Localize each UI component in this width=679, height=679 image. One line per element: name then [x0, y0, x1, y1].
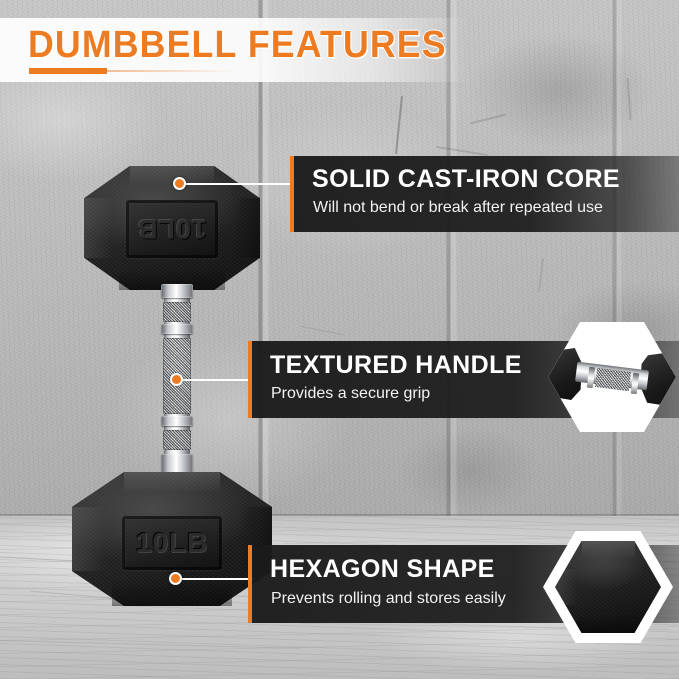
title-underline-fade: [107, 70, 237, 72]
feature-panel-solid-cast-iron-core[interactable]: SOLID CAST-IRON CORE Will not bend or br…: [290, 156, 679, 232]
wall-crack: [627, 78, 632, 120]
leader-line-feature-1: [184, 183, 294, 185]
handle-knurl-band-top: [163, 302, 191, 322]
weight-label-top: 10LB: [126, 200, 218, 258]
feature-title-1: SOLID CAST-IRON CORE: [312, 165, 620, 194]
marker-dot-feature-2[interactable]: [170, 373, 183, 386]
leader-line-feature-2: [182, 379, 252, 381]
weight-plate-top: 10LB: [126, 200, 218, 258]
hex-face-shadow-bottom: [576, 613, 640, 633]
mini-handle-ring: [587, 367, 596, 389]
feature-title-3: HEXAGON SHAPE: [270, 555, 495, 584]
dumbbell-bottom-head: 10LB: [72, 472, 272, 606]
panel-accent-bar: [248, 341, 252, 418]
wall-crack: [300, 326, 343, 335]
mini-hexagon-face: [555, 541, 661, 633]
feature-title-2: TEXTURED HANDLE: [270, 351, 522, 380]
hex-face-highlight-left: [555, 569, 578, 606]
marker-dot-feature-1[interactable]: [173, 177, 186, 190]
leader-line-feature-3: [182, 578, 254, 580]
wall-crack: [436, 146, 488, 156]
title-underline-bar: [29, 68, 107, 74]
handle-ring-lower: [161, 416, 193, 426]
mini-handle-knurl: [595, 368, 631, 391]
infographic-canvas: DUMBBELL FEATURES 10LB: [0, 0, 679, 679]
page-title: DUMBBELL FEATURES: [28, 26, 447, 64]
hex-face-highlight-top: [582, 541, 635, 559]
wall-crack: [538, 258, 544, 292]
handle-collar-top: [161, 284, 193, 298]
panel-accent-bar: [248, 545, 252, 623]
wall-crack: [395, 96, 403, 154]
panel-accent-bar: [290, 156, 294, 232]
wall-crack: [470, 114, 505, 125]
feature-subtitle-1: Will not bend or break after repeated us…: [313, 199, 603, 217]
feature-subtitle-3: Prevents rolling and stores easily: [271, 590, 506, 608]
marker-dot-feature-3[interactable]: [169, 572, 182, 585]
handle-knurl-band-bottom: [163, 430, 191, 450]
weight-label-bottom: 10LB: [122, 516, 222, 570]
floor-grain-line: [0, 640, 300, 649]
handle-ring-upper: [161, 324, 193, 334]
feature-subtitle-2: Provides a secure grip: [271, 385, 430, 403]
mini-handle-ring: [631, 373, 640, 395]
weight-plate-bottom: 10LB: [122, 516, 222, 570]
